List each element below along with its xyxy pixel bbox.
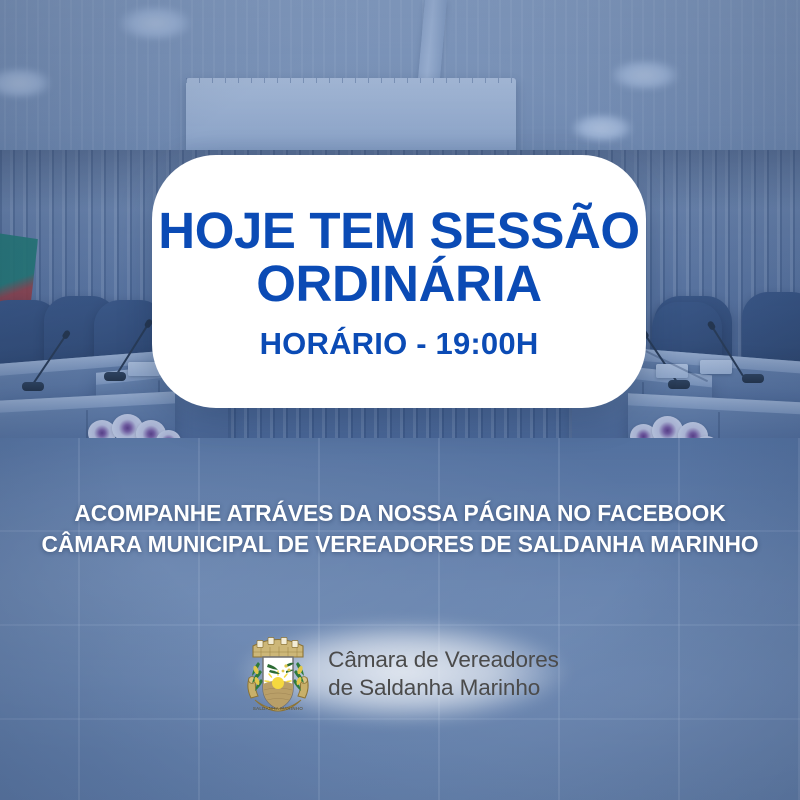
logo-name-line-1: Câmara de Vereadores [328, 646, 559, 674]
announcement-line-1: ACOMPANHE ATRÁVES DA NOSSA PÁGINA NO FAC… [12, 498, 788, 529]
svg-text:SALDANHA MARINHO: SALDANHA MARINHO [253, 706, 303, 711]
session-announcement-poster: HOJE TEM SESSÃO ORDINÁRIA HORÁRIO - 19:0… [0, 0, 800, 800]
logo-lockup: SALDANHA MARINHO Câmara de Vereadores de… [0, 626, 800, 722]
page-title: HOJE TEM SESSÃO ORDINÁRIA [158, 205, 639, 309]
logo-name-line-2: de Saldanha Marinho [328, 674, 559, 702]
session-time: HORÁRIO - 19:00H [260, 326, 539, 362]
announcement-line-2: CÂMARA MUNICIPAL DE VEREADORES DE SALDAN… [12, 529, 788, 560]
logo-text: Câmara de Vereadores de Saldanha Marinho [328, 646, 559, 703]
headline-card: HOJE TEM SESSÃO ORDINÁRIA HORÁRIO - 19:0… [152, 155, 646, 408]
coat-of-arms-icon: SALDANHA MARINHO [241, 626, 315, 722]
announcement-text: ACOMPANHE ATRÁVES DA NOSSA PÁGINA NO FAC… [12, 498, 788, 561]
